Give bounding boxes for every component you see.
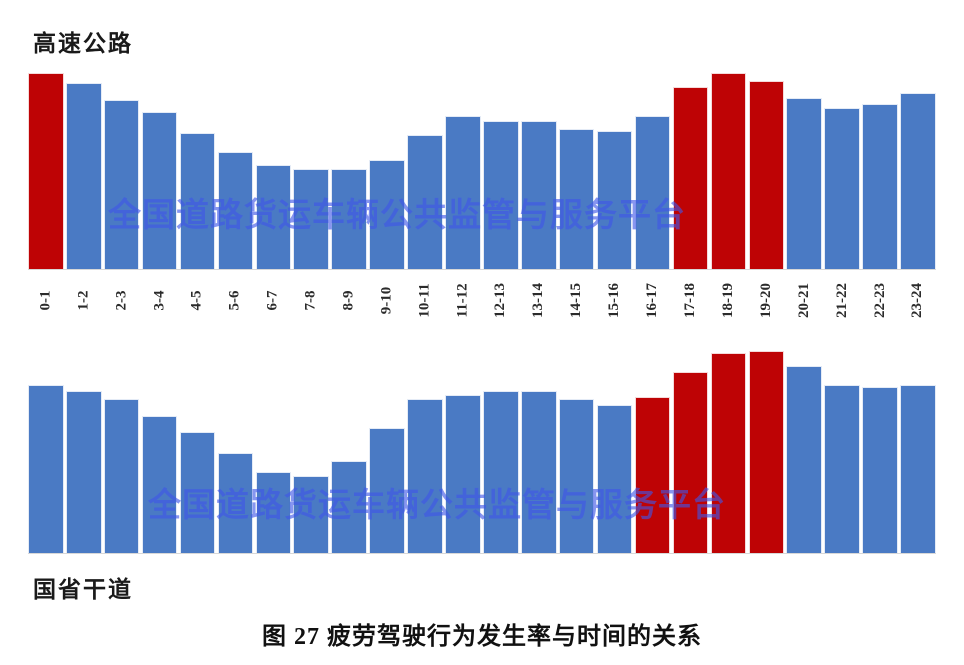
x-tick-3-4: 3-4 (142, 272, 178, 334)
bar-slot (786, 60, 822, 269)
bar-9-10 (369, 428, 405, 553)
bar-slot (749, 345, 785, 553)
bar-6-7 (256, 165, 292, 270)
bar-slot (218, 345, 254, 553)
bar-slot (559, 345, 595, 553)
bar-slot (749, 60, 785, 269)
bar-slot (900, 345, 936, 553)
bar-slot (559, 60, 595, 269)
bar-8-9 (331, 461, 367, 553)
bar-13-14 (521, 391, 557, 553)
x-tick-label: 10-11 (417, 283, 434, 317)
x-tick-18-19: 18-19 (711, 272, 747, 334)
bar-0-1 (28, 385, 64, 553)
bar-21-22 (824, 108, 860, 269)
bar-1-2 (66, 83, 102, 269)
x-tick-label: 21-22 (834, 283, 851, 318)
bar-slot (711, 345, 747, 553)
x-tick-0-1: 0-1 (28, 272, 64, 334)
bar-slot (104, 60, 140, 269)
x-tick-2-3: 2-3 (104, 272, 140, 334)
bar-2-3 (104, 100, 140, 269)
x-tick-8-9: 8-9 (331, 272, 367, 334)
bar-series-bottom (28, 345, 936, 553)
x-tick-label: 20-21 (796, 283, 813, 318)
x-tick-label: 17-18 (682, 283, 699, 318)
bar-slot (256, 345, 292, 553)
bar-slot (293, 345, 329, 553)
bar-16-17 (635, 397, 671, 553)
x-tick-label: 4-5 (189, 291, 206, 311)
bar-slot (407, 345, 443, 553)
bar-slot (104, 345, 140, 553)
bar-20-21 (786, 98, 822, 269)
bar-slot (256, 60, 292, 269)
bar-15-16 (597, 131, 633, 269)
x-tick-4-5: 4-5 (180, 272, 216, 334)
bar-19-20 (749, 351, 785, 553)
bar-slot (369, 60, 405, 269)
x-tick-label: 19-20 (758, 283, 775, 318)
x-tick-5-6: 5-6 (218, 272, 254, 334)
bar-slot (180, 345, 216, 553)
x-tick-12-13: 12-13 (483, 272, 519, 334)
bar-21-22 (824, 385, 860, 553)
panel-label-top: 高速公路 (33, 24, 133, 58)
x-tick-label: 7-8 (303, 291, 320, 311)
x-tick-11-12: 11-12 (445, 272, 481, 334)
bar-slot (142, 345, 178, 553)
panel-label-bottom: 国省干道 (33, 570, 133, 604)
bar-11-12 (445, 395, 481, 553)
x-tick-label: 16-17 (644, 283, 661, 318)
bar-10-11 (407, 135, 443, 269)
bar-11-12 (445, 116, 481, 269)
x-tick-label: 23-24 (909, 283, 926, 318)
bar-3-4 (142, 112, 178, 269)
x-tick-label: 9-10 (379, 287, 396, 315)
bar-slot (28, 60, 64, 269)
bar-9-10 (369, 160, 405, 269)
bar-14-15 (559, 129, 595, 269)
bar-7-8 (293, 169, 329, 269)
bar-13-14 (521, 121, 557, 269)
bar-slot (786, 345, 822, 553)
figure-container: 高速公路 全国道路货运车辆公共监管与服务平台 0-11-22-33-44-55-… (0, 0, 964, 665)
x-tick-21-22: 21-22 (824, 272, 860, 334)
x-tick-label: 11-12 (454, 283, 471, 317)
bar-3-4 (142, 416, 178, 553)
bar-slot (824, 60, 860, 269)
chart-panel-national-road (0, 345, 964, 560)
bar-17-18 (673, 87, 709, 269)
x-tick-label: 22-23 (872, 283, 889, 318)
x-tick-label: 0-1 (37, 291, 54, 311)
bar-slot (180, 60, 216, 269)
x-tick-10-11: 10-11 (407, 272, 443, 334)
x-tick-label: 15-16 (606, 283, 623, 318)
bar-8-9 (331, 169, 367, 269)
bar-22-23 (862, 104, 898, 269)
bar-7-8 (293, 476, 329, 553)
x-tick-7-8: 7-8 (293, 272, 329, 334)
x-tick-label: 18-19 (720, 283, 737, 318)
x-tick-label: 3-4 (151, 291, 168, 311)
bar-slot (597, 60, 633, 269)
bar-slot (862, 345, 898, 553)
bar-slot (28, 345, 64, 553)
bar-10-11 (407, 399, 443, 553)
bar-5-6 (218, 453, 254, 553)
bar-slot (483, 60, 519, 269)
bar-slot (862, 60, 898, 269)
x-tick-label: 6-7 (265, 291, 282, 311)
bar-6-7 (256, 472, 292, 553)
bar-12-13 (483, 391, 519, 553)
bar-4-5 (180, 432, 216, 553)
bar-slot (445, 60, 481, 269)
bar-14-15 (559, 399, 595, 553)
bar-slot (66, 345, 102, 553)
x-tick-label: 12-13 (492, 283, 509, 318)
bar-series-top (28, 60, 936, 269)
bar-2-3 (104, 399, 140, 553)
bar-slot (635, 60, 671, 269)
x-axis-labels-top: 0-11-22-33-44-55-66-77-88-99-1010-1111-1… (28, 272, 936, 334)
bar-19-20 (749, 81, 785, 269)
x-tick-9-10: 9-10 (369, 272, 405, 334)
plot-area-bottom (28, 345, 936, 553)
x-tick-label: 14-15 (568, 283, 585, 318)
bar-slot (293, 60, 329, 269)
axis-baseline-bottom (28, 553, 936, 554)
bar-slot (331, 60, 367, 269)
x-tick-14-15: 14-15 (559, 272, 595, 334)
x-tick-label: 13-14 (530, 283, 547, 318)
bar-17-18 (673, 372, 709, 553)
bar-slot (407, 60, 443, 269)
bar-18-19 (711, 73, 747, 269)
bar-0-1 (28, 73, 64, 269)
bar-slot (673, 60, 709, 269)
bar-slot (521, 345, 557, 553)
bar-slot (711, 60, 747, 269)
bar-slot (369, 345, 405, 553)
x-tick-19-20: 19-20 (749, 272, 785, 334)
bar-18-19 (711, 353, 747, 553)
x-tick-23-24: 23-24 (900, 272, 936, 334)
x-tick-6-7: 6-7 (256, 272, 292, 334)
bar-slot (66, 60, 102, 269)
x-tick-16-17: 16-17 (635, 272, 671, 334)
x-tick-13-14: 13-14 (521, 272, 557, 334)
x-tick-20-21: 20-21 (786, 272, 822, 334)
bar-4-5 (180, 133, 216, 269)
bar-slot (445, 345, 481, 553)
plot-area-top (28, 60, 936, 269)
bar-slot (142, 60, 178, 269)
bar-5-6 (218, 152, 254, 269)
x-tick-17-18: 17-18 (673, 272, 709, 334)
x-tick-22-23: 22-23 (862, 272, 898, 334)
x-tick-label: 1-2 (75, 291, 92, 311)
bar-slot (218, 60, 254, 269)
bar-23-24 (900, 93, 936, 269)
x-tick-label: 5-6 (227, 291, 244, 311)
bar-slot (597, 345, 633, 553)
bar-15-16 (597, 405, 633, 553)
bar-slot (900, 60, 936, 269)
x-tick-label: 8-9 (341, 291, 358, 311)
bar-slot (483, 345, 519, 553)
axis-baseline-top (28, 269, 936, 270)
bar-1-2 (66, 391, 102, 553)
bar-16-17 (635, 116, 671, 269)
x-tick-15-16: 15-16 (597, 272, 633, 334)
x-tick-1-2: 1-2 (66, 272, 102, 334)
bar-slot (635, 345, 671, 553)
bar-slot (521, 60, 557, 269)
figure-caption: 图 27 疲劳驾驶行为发生率与时间的关系 (0, 616, 964, 651)
bar-slot (673, 345, 709, 553)
bar-slot (824, 345, 860, 553)
bar-23-24 (900, 385, 936, 553)
x-tick-label: 2-3 (113, 291, 130, 311)
bar-20-21 (786, 366, 822, 553)
bar-slot (331, 345, 367, 553)
bar-12-13 (483, 121, 519, 269)
bar-22-23 (862, 387, 898, 553)
